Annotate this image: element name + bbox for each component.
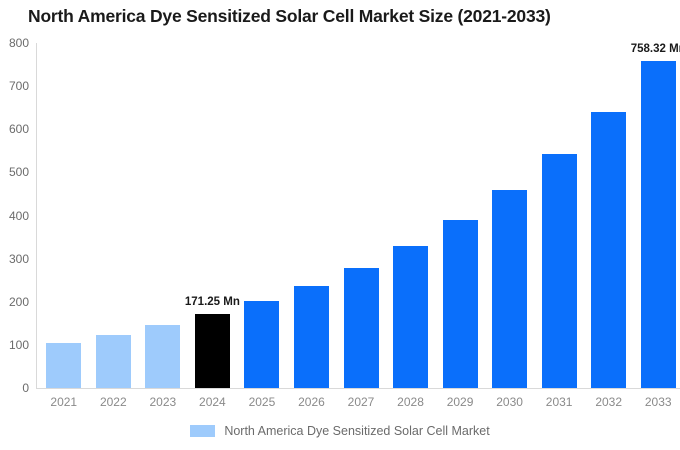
bar-2028[interactable] (393, 246, 428, 388)
legend-entries: North America Dye Sensitized Solar Cell … (190, 424, 489, 438)
x-axis-tick-label: 2031 (546, 395, 573, 409)
legend-label: North America Dye Sensitized Solar Cell … (224, 424, 489, 438)
chart-title: North America Dye Sensitized Solar Cell … (28, 6, 551, 27)
bar-2027[interactable] (344, 268, 379, 388)
y-axis-tick-label: 100 (9, 338, 29, 352)
bar-2031[interactable] (542, 154, 577, 388)
x-axis-tick-label: 2030 (496, 395, 523, 409)
bar-2023[interactable] (145, 325, 180, 388)
x-axis-tick-label: 2021 (50, 395, 77, 409)
bar-2029[interactable] (443, 220, 478, 388)
y-axis-tick-label: 400 (9, 209, 29, 223)
chart-container: North America Dye Sensitized Solar Cell … (0, 0, 680, 450)
y-axis-tick-label: 600 (9, 122, 29, 136)
y-axis-tick-label: 0 (22, 381, 29, 395)
x-axis-tick-label: 2029 (447, 395, 474, 409)
x-axis-tick-label: 2022 (100, 395, 127, 409)
x-axis-tick-label: 2025 (249, 395, 276, 409)
bar-value-label-2024: 171.25 Mn (185, 296, 240, 308)
bar-2026[interactable] (294, 286, 329, 388)
y-axis-tick-label: 800 (9, 36, 29, 50)
bar-2025[interactable] (244, 301, 279, 388)
x-axis-tick-label: 2027 (348, 395, 375, 409)
bar-2021[interactable] (46, 343, 81, 388)
y-axis-tick-label: 700 (9, 79, 29, 93)
y-axis-tick-label: 300 (9, 252, 29, 266)
y-axis-line (36, 43, 37, 388)
bar-2032[interactable] (591, 112, 626, 388)
x-axis-tick-label: 2024 (199, 395, 226, 409)
x-axis-tick-label: 2033 (645, 395, 672, 409)
x-axis-tick-label: 2023 (149, 395, 176, 409)
x-axis-tick-label: 2028 (397, 395, 424, 409)
chart-legend: North America Dye Sensitized Solar Cell … (0, 424, 680, 438)
x-axis-tick-label: 2026 (298, 395, 325, 409)
bar-2022[interactable] (96, 335, 131, 388)
bar-2024[interactable] (195, 314, 230, 388)
bar-2030[interactable] (492, 190, 527, 388)
legend-item[interactable]: North America Dye Sensitized Solar Cell … (190, 424, 489, 438)
y-axis-tick-label: 500 (9, 165, 29, 179)
y-axis-tick-label: 200 (9, 295, 29, 309)
x-axis-line (36, 388, 680, 389)
x-axis-tick-label: 2032 (595, 395, 622, 409)
legend-swatch-icon (190, 425, 215, 437)
bar-2033[interactable] (641, 61, 676, 388)
plot-area: 0100200300400500600700800 171.25 Mn758.3… (36, 43, 680, 388)
bar-value-label-2033: 758.32 Mn (631, 43, 680, 55)
